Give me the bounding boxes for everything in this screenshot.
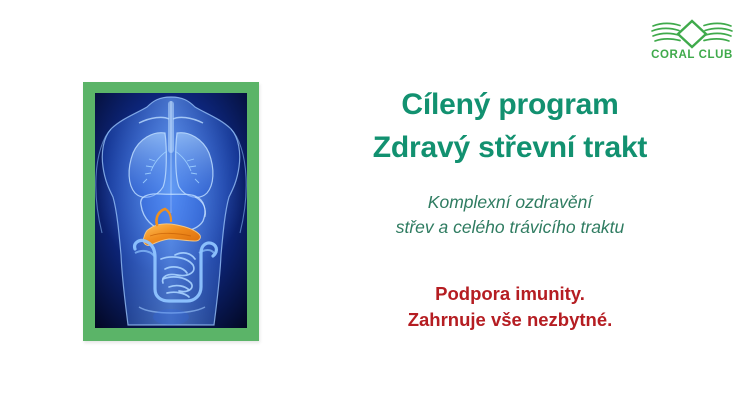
headline-line-2: Zdravý střevní trakt (300, 127, 720, 170)
headline-line-1: Cílený program (300, 84, 720, 127)
presentation-slide: CORAL CLUB (0, 0, 740, 416)
coral-club-logo-text: CORAL CLUB (650, 49, 734, 61)
subheadline-line-1: Komplexní ozdravění (300, 190, 720, 215)
coral-club-logo: CORAL CLUB (650, 18, 734, 66)
headline: Cílený program Zdravý střevní trakt (300, 84, 720, 169)
coral-club-diamond-icon (650, 18, 734, 50)
human-digestive-system-xray (95, 93, 247, 328)
promo-line-1: Podpora imunity. (300, 281, 720, 307)
promo-line-2: Zahrnuje vše nezbytné. (300, 307, 720, 333)
anatomy-image-frame (83, 82, 259, 341)
subheadline: Komplexní ozdravění střev a celého trávi… (300, 190, 720, 241)
promo-text: Podpora imunity. Zahrnuje vše nezbytné. (300, 281, 720, 334)
subheadline-line-2: střev a celého trávicího traktu (300, 215, 720, 240)
